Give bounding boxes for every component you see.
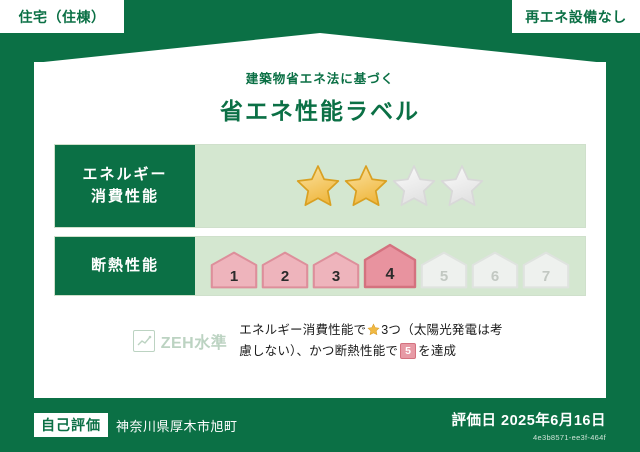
star-rating <box>295 163 485 209</box>
zeh-text-part3: を達成 <box>418 344 456 358</box>
tab-renewable-energy-label: 再エネ設備なし <box>525 7 627 27</box>
zeh-inline-level-badge: 5 <box>400 343 416 359</box>
star-filled-icon <box>343 163 389 209</box>
insulation-level-badge: 4 <box>363 243 417 289</box>
insulation-level-number: 4 <box>363 266 417 284</box>
property-address: 神奈川県厚木市旭町 <box>116 416 238 435</box>
zeh-description: エネルギー消費性能で3つ（太陽光発電は考慮しない）、かつ断熱性能で5を達成 <box>239 320 507 361</box>
tab-building-type-label: 住宅（住棟） <box>19 7 106 27</box>
insulation-performance-label: 断熱性能 <box>55 237 195 295</box>
document-id: 4e3b8571-ee3f-464f <box>452 433 606 442</box>
tab-renewable-energy: 再エネ設備なし <box>512 0 640 33</box>
insulation-level-badge: 7 <box>522 251 570 289</box>
star-empty-icon <box>439 163 485 209</box>
star-icon <box>367 323 380 336</box>
insulation-level-badge: 6 <box>471 251 519 289</box>
insulation-level-number: 3 <box>312 268 360 285</box>
footer: 自己評価 神奈川県厚木市旭町 評価日 2025年6月16日 4e3b8571-e… <box>0 398 640 452</box>
self-evaluation-badge: 自己評価 <box>34 413 108 437</box>
evaluation-date: 評価日 2025年6月16日 <box>452 409 606 430</box>
energy-label-line1: エネルギー <box>82 164 167 186</box>
zeh-standard-section: ZEH水準 エネルギー消費性能で3つ（太陽光発電は考慮しない）、かつ断熱性能で5… <box>34 320 606 361</box>
chart-up-icon <box>133 330 155 352</box>
insulation-level-badge: 1 <box>210 251 258 289</box>
ratings-section: エネルギー 消費性能 断熱性能 1234567 <box>34 144 606 296</box>
page-subtitle: 建築物省エネ法に基づく <box>220 68 420 87</box>
zeh-text-part1: エネルギー消費性能で <box>239 323 366 337</box>
tab-building-type: 住宅（住棟） <box>0 0 124 33</box>
star-empty-icon <box>391 163 437 209</box>
insulation-level-scale: 1234567 <box>210 243 570 289</box>
zeh-mark-label: ZEH水準 <box>161 329 228 353</box>
insulation-performance-body: 1234567 <box>195 237 585 295</box>
insulation-level-number: 5 <box>420 268 468 285</box>
energy-performance-body <box>195 145 585 227</box>
insulation-level-badge: 3 <box>312 251 360 289</box>
energy-performance-row: エネルギー 消費性能 <box>54 144 586 228</box>
insulation-level-number: 2 <box>261 268 309 285</box>
footer-right: 評価日 2025年6月16日 4e3b8571-ee3f-464f <box>452 409 606 442</box>
footer-left: 自己評価 神奈川県厚木市旭町 <box>34 413 238 437</box>
insulation-label-text: 断熱性能 <box>91 255 159 277</box>
insulation-level-number: 7 <box>522 268 570 285</box>
insulation-performance-row: 断熱性能 1234567 <box>54 236 586 296</box>
energy-performance-label: エネルギー 消費性能 <box>55 145 195 227</box>
zeh-mark: ZEH水準 <box>133 329 228 353</box>
label-card: 建築物省エネ法に基づく 省エネ性能ラベル エネルギー 消費性能 断熱性能 123… <box>34 62 606 398</box>
insulation-level-number: 1 <box>210 268 258 285</box>
page-title: 建築物省エネ法に基づく 省エネ性能ラベル <box>220 68 420 126</box>
energy-label-line2: 消費性能 <box>91 186 159 208</box>
page-title-main: 省エネ性能ラベル <box>220 92 420 126</box>
star-filled-icon <box>295 163 341 209</box>
insulation-level-badge: 2 <box>261 251 309 289</box>
header-chevron-decoration <box>34 33 606 63</box>
insulation-level-badge: 5 <box>420 251 468 289</box>
insulation-level-number: 6 <box>471 268 519 285</box>
